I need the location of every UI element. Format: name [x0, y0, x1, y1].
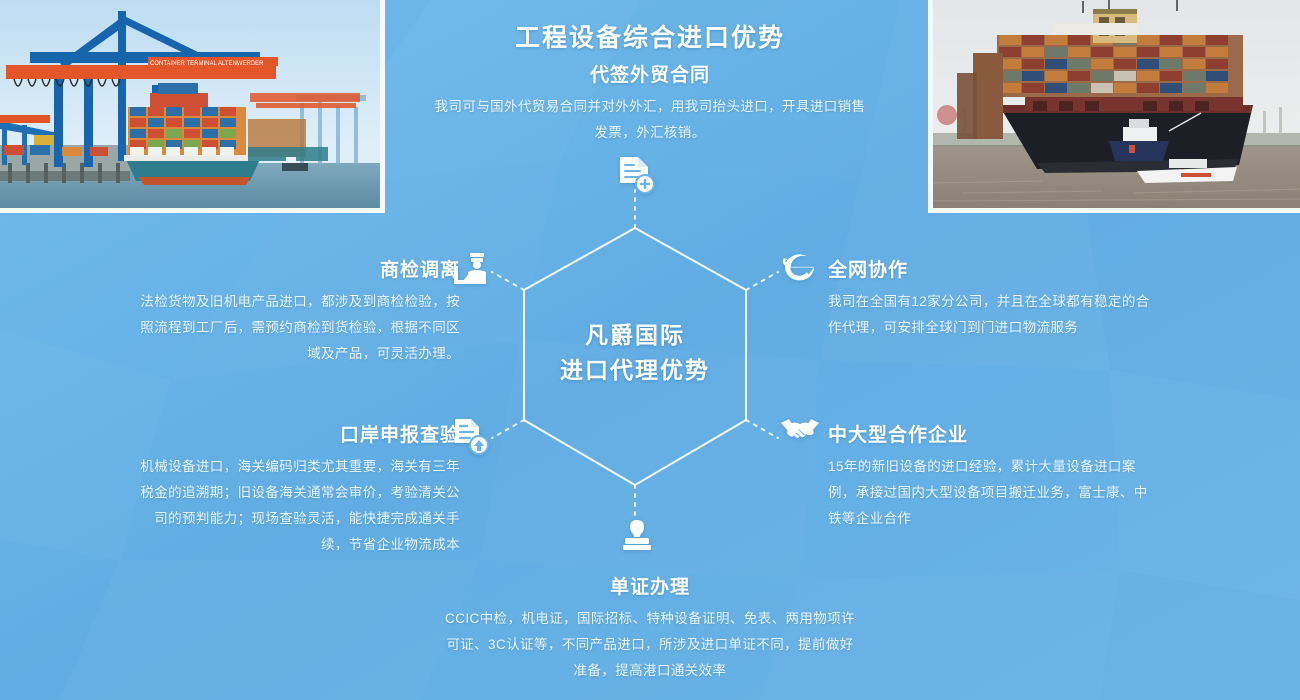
- document-upload-icon: [452, 417, 490, 457]
- section-top-body: 我司可与国外代贸易合同并对外外汇，用我司抬头进口，开具进口销售发票，外汇核销。: [430, 94, 870, 146]
- section-right-top: 全网协作 我司在全国有12家分公司，并且在全球都有稳定的合作代理，可安排全球门到…: [828, 255, 1158, 341]
- ie-browser-icon: [782, 250, 818, 284]
- section-top-title: 代签外贸合同: [430, 60, 870, 87]
- hex-line-2: 进口代理优势: [510, 353, 760, 388]
- section-right-bottom: 中大型合作企业 15年的新旧设备的进口经验，累计大量设备进口案例，承接过国内大型…: [828, 420, 1158, 532]
- hexagon-center-label: 凡爵国际 进口代理优势: [510, 318, 760, 388]
- section-right-bottom-body: 15年的新旧设备的进口经验，累计大量设备进口案例，承接过国内大型设备项目搬迁业务…: [828, 454, 1158, 532]
- section-right-top-body: 我司在全国有12家分公司，并且在全球都有稳定的合作代理，可安排全球门到门进口物流…: [828, 289, 1158, 341]
- section-bottom: 单证办理 CCIC中检，机电证，国际招标、特种设备证明、免表、两用物项许可证、3…: [440, 572, 860, 684]
- svg-text:CONTAINER TERMINAL ALTENWERDER: CONTAINER TERMINAL ALTENWERDER: [150, 61, 264, 67]
- document-plus-icon: [616, 155, 656, 197]
- section-left-top: 商检调离 法检货物及旧机电产品进口，都涉及到商检检验，按照流程到工厂后，需预约商…: [130, 255, 460, 367]
- section-bottom-body: CCIC中检，机电证，国际招标、特种设备证明、免表、两用物项许可证、3C认证等，…: [440, 606, 860, 684]
- section-left-top-title: 商检调离: [130, 255, 460, 282]
- hex-line-1: 凡爵国际: [510, 318, 760, 353]
- page-title: 工程设备综合进口优势: [0, 18, 1300, 54]
- section-right-top-title: 全网协作: [828, 255, 1158, 282]
- section-right-bottom-title: 中大型合作企业: [828, 420, 1158, 447]
- section-left-bottom: 口岸申报查验 机械设备进口，海关编码归类尤其重要，海关有三年税金的追溯期；旧设备…: [130, 420, 460, 558]
- section-left-top-body: 法检货物及旧机电产品进口，都涉及到商检检验，按照流程到工厂后，需预约商检到货检验…: [130, 289, 460, 367]
- section-top: 代签外贸合同 我司可与国外代贸易合同并对外外汇，用我司抬头进口，开具进口销售发票…: [430, 60, 870, 146]
- infographic-canvas: CONTAINER TERMINAL ALTENWERDER: [0, 0, 1300, 700]
- section-bottom-title: 单证办理: [440, 572, 860, 599]
- section-left-bottom-title: 口岸申报查验: [130, 420, 460, 447]
- rubber-stamp-icon: [620, 518, 654, 552]
- inspector-icon: [452, 252, 488, 286]
- section-left-bottom-body: 机械设备进口，海关编码归类尤其重要，海关有三年税金的追溯期；旧设备海关通常会审价…: [130, 454, 460, 558]
- handshake-icon: [780, 416, 820, 448]
